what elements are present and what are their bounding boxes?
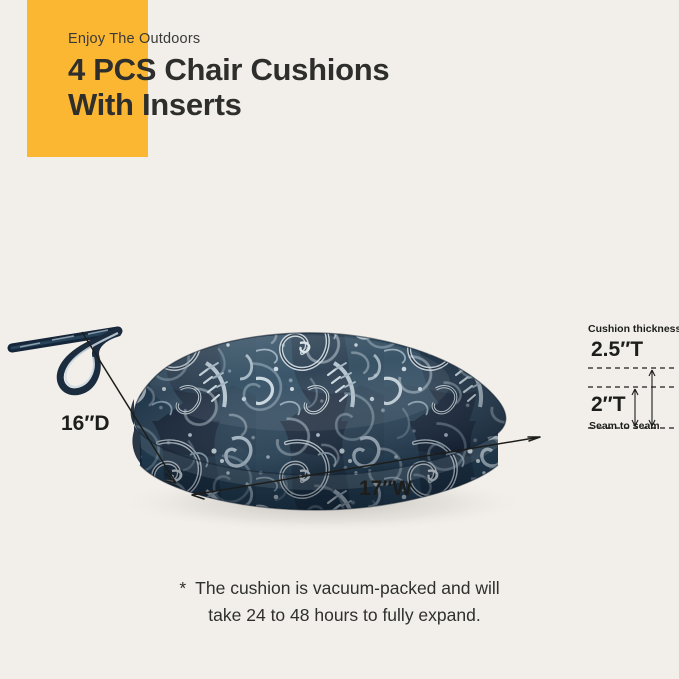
headline-line-2: With Inserts [68,87,628,122]
eyebrow-text: Enjoy The Outdoors [68,30,628,48]
seam-thickness-label: 2″T [591,393,626,417]
cushion-tie-strap [12,330,118,392]
total-thickness-label: 2.5″T [591,338,643,362]
depth-dimension-label: 16″D [61,412,110,436]
width-dimension-label: 17″W [359,477,412,501]
cushion-illustration [0,165,679,545]
seam-to-seam-caption: Seam to seam [589,420,660,432]
product-infographic-page: Enjoy The Outdoors 4 PCS Chair Cushions … [0,0,679,679]
headline-line-1: 4 PCS Chair Cushions [68,52,628,87]
cushion-thickness-caption: Cushion thickness [588,323,679,335]
measure-total-thickness [649,370,655,426]
footnote-star: * [179,578,186,598]
footnote-block: *The cushion is vacuum-packed and will t… [0,575,679,629]
footnote-line-1: The cushion is vacuum-packed and will [195,578,499,598]
footnote-line-2: take 24 to 48 hours to fully expand. [0,602,679,629]
header-text-group: Enjoy The Outdoors 4 PCS Chair Cushions … [68,30,628,122]
